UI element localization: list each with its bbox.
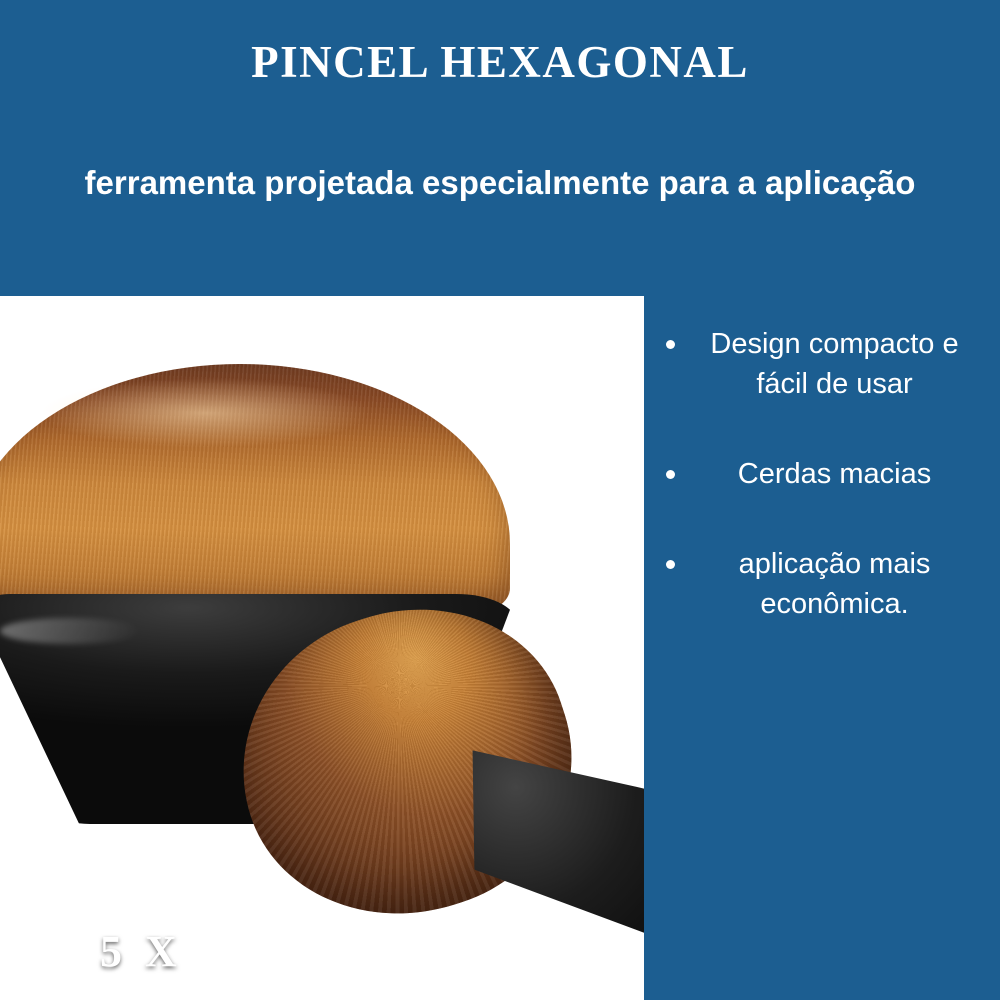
quantity-badge: 5 X xyxy=(100,926,183,977)
list-item-label: aplicação mais econômica. xyxy=(687,544,982,624)
bullet-dot-icon xyxy=(666,560,675,569)
page-subtitle: ferramenta projetada especialmente para … xyxy=(50,158,950,208)
list-item-label: Cerdas macias xyxy=(687,454,982,494)
bullet-dot-icon xyxy=(666,340,675,349)
handle-shine xyxy=(0,618,140,644)
list-item-label: Design compacto e fácil de usar xyxy=(687,324,982,404)
list-item: Design compacto e fácil de usar xyxy=(666,324,982,404)
list-item: aplicação mais econômica. xyxy=(666,544,982,624)
brush-bristles-icon xyxy=(0,364,510,614)
product-banner: PINCEL HEXAGONAL ferramenta projetada es… xyxy=(0,0,1000,1000)
list-item: Cerdas macias xyxy=(666,454,982,494)
header-band: PINCEL HEXAGONAL ferramenta projetada es… xyxy=(0,0,1000,296)
product-photo: 5 X xyxy=(0,296,644,1000)
bullet-dot-icon xyxy=(666,470,675,479)
feature-list: Design compacto e fácil de usar Cerdas m… xyxy=(644,296,1000,1000)
page-title: PINCEL HEXAGONAL xyxy=(0,36,1000,88)
